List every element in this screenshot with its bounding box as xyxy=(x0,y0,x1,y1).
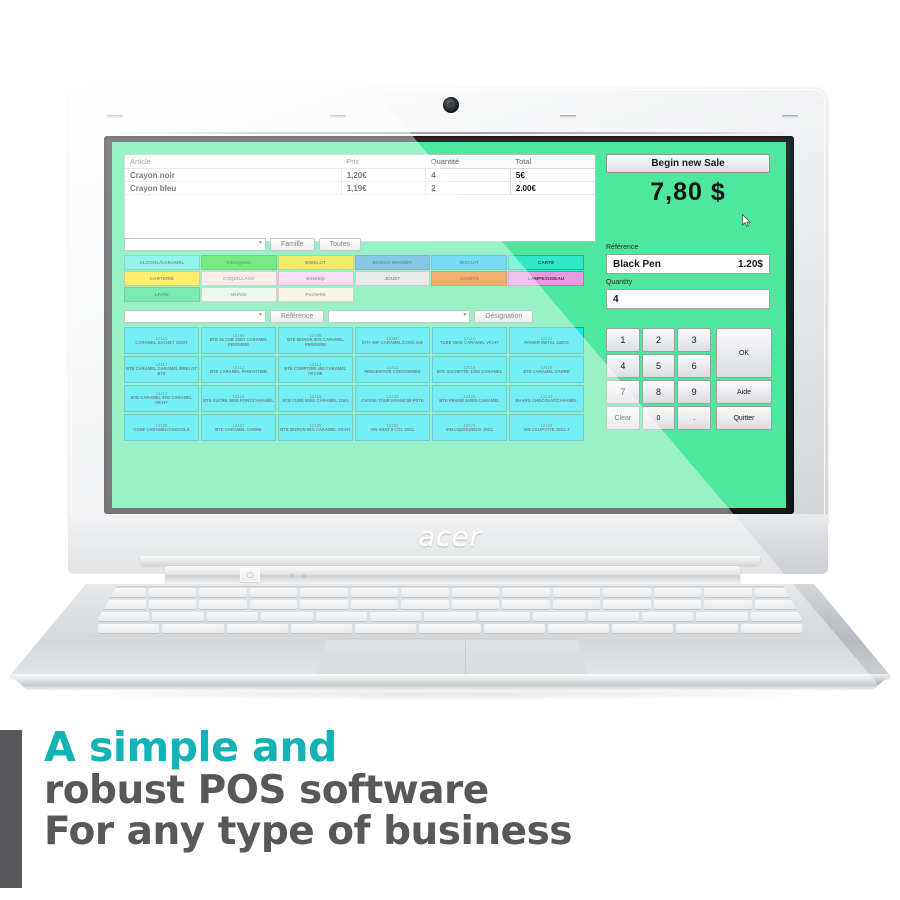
cart-cell-prix: 1,20€ xyxy=(341,169,426,182)
keyboard-key xyxy=(452,588,500,597)
product-button[interactable]: 12122BAARG CHOCOLAT/CARAMEL xyxy=(509,385,584,412)
keyboard-key xyxy=(751,612,802,621)
product-toolbar: Référence Désignation xyxy=(124,310,584,323)
tagline-line-2: robust POS software xyxy=(44,770,744,811)
keyboard-key xyxy=(401,600,449,609)
cart-col-quantite: Quantité xyxy=(426,155,511,169)
reference-field[interactable]: Black Pen 1.20$ xyxy=(606,254,770,274)
family-button-grid: ALCOOL/CARAMELAllongeantBIBELOTBIJOUX-MA… xyxy=(124,255,584,302)
product-button[interactable]: 12211PANIER METAL 1420G xyxy=(509,327,584,354)
product-name: CONF CARAMEL/CHOCOLA xyxy=(133,428,189,433)
keypad-aide-button[interactable]: Aide xyxy=(716,380,772,404)
keyboard-key xyxy=(199,600,247,609)
keyboard-key xyxy=(98,624,159,633)
lid-foot xyxy=(140,556,760,565)
family-button[interactable]: LIVRE xyxy=(124,287,200,302)
cart-cell-article: Crayon noir xyxy=(125,169,341,182)
quantity-field-label: Quantity xyxy=(606,279,632,286)
cart-cell-total: 2.00€ xyxy=(510,182,595,195)
keyboard-key xyxy=(553,588,601,597)
family-button[interactable]: Pochette xyxy=(278,287,354,302)
product-button[interactable]: 12104BTE 16 CUB 150G CARAMEL FERRIERE xyxy=(201,327,276,354)
keyboard-key xyxy=(696,612,747,621)
keyboard-key xyxy=(704,600,752,609)
keyboard-key xyxy=(98,612,149,621)
product-name: BTE CARAMEL CARAMEL/BRELOT BTE xyxy=(126,367,197,376)
keyboard-key xyxy=(401,588,449,597)
keyboard-key xyxy=(704,588,752,597)
family-button[interactable]: JOUET xyxy=(355,271,431,286)
keyboard-key xyxy=(227,624,288,633)
famille-button[interactable]: Famille xyxy=(270,238,315,251)
tagline-line-3: For any type of business xyxy=(44,811,744,852)
keyboard-key xyxy=(612,624,673,633)
product-button[interactable]: 12175VIN LIQUOUREUX 25CL xyxy=(432,414,507,441)
family-combo-select[interactable] xyxy=(124,238,266,251)
keyboard-key xyxy=(533,612,584,621)
keyboard-key xyxy=(588,612,639,621)
trackpad[interactable] xyxy=(318,638,586,676)
keyboard-key xyxy=(261,612,312,621)
keypad-digit-6[interactable]: 6 xyxy=(677,354,711,378)
family-button[interactable]: JOUETS xyxy=(431,271,507,286)
product-name: BTE CUBE 500G CARAMEL 110G xyxy=(282,399,348,404)
keyboard-key xyxy=(149,588,197,597)
keypad-decimal-button[interactable]: . xyxy=(677,406,711,430)
keypad-quitter-button[interactable]: Quitter xyxy=(716,406,772,430)
pos-application: Article Prix Quantité Total Crayon noir … xyxy=(112,142,786,508)
family-button[interactable]: CARTE xyxy=(508,255,584,270)
right-panel: Begin new Sale 7,80 $ Référence Black Pe… xyxy=(604,152,776,498)
total-amount-display: 7,80 $ xyxy=(604,178,772,207)
keyboard-key xyxy=(424,612,475,621)
screen-frame: Article Prix Quantité Total Crayon noir … xyxy=(104,136,794,514)
reference-field-label: Référence xyxy=(606,244,638,251)
speaker-slot-right-outer xyxy=(782,115,798,118)
quantity-input[interactable]: 4 xyxy=(606,289,770,309)
keyboard-key xyxy=(548,624,609,633)
cart-cell-quantite: 4 xyxy=(426,169,511,182)
keyboard-key xyxy=(351,588,399,597)
table-row[interactable]: Crayon bleu 1,19€ 2 2.00€ xyxy=(125,182,595,195)
product-button[interactable]: 12113BTE CARAMEL PAINVOTIER xyxy=(201,356,276,383)
product-button[interactable]: 12411PRESENTOIR CONSOMMES xyxy=(355,356,430,383)
tagline-accent-bar xyxy=(0,730,22,888)
family-button[interactable]: Allongeant xyxy=(201,255,277,270)
keyboard-key xyxy=(291,624,352,633)
base-drop-shadow xyxy=(40,688,860,700)
keyboard-key xyxy=(152,612,203,621)
product-name: VIN LIQUOUREUX 25CL xyxy=(446,428,493,433)
product-name: VIN CALIPYTTE 25CL 2 xyxy=(523,428,569,433)
product-button[interactable]: 12107BTE CARAMEL CARRE xyxy=(201,414,276,441)
product-button[interactable]: 12119BTE CUBE 500G CARAMEL 110G xyxy=(278,385,353,412)
keyboard-key xyxy=(654,600,702,609)
keypad-digit-5[interactable]: 5 xyxy=(642,354,676,378)
keyboard-key xyxy=(370,612,421,621)
product-name: BTE COMPTOIR 450 CARAMEL FECHE xyxy=(280,367,351,376)
product-name: CAISSE TOUR KRANZ 88 PSTE xyxy=(361,399,423,404)
reference-button[interactable]: Référence xyxy=(270,310,324,323)
product-name: BTE CARAMEL CARRE xyxy=(215,428,261,433)
keyboard-key xyxy=(351,600,399,609)
family-button[interactable]: BISCUIT xyxy=(431,255,507,270)
product-button[interactable]: 12102VIN SHAT 9 COL 25CL xyxy=(355,414,430,441)
family-button[interactable]: LAMPE/OISEAU xyxy=(508,271,584,286)
keypad-ok-button[interactable]: OK xyxy=(716,328,772,378)
keyboard-key xyxy=(642,612,693,621)
product-name: BTE MURON 50G CARAMEL VICHY xyxy=(280,428,350,433)
laptop-illustration: Article Prix Quantité Total Crayon noir … xyxy=(0,0,900,710)
product-button[interactable]: 12108BTE MONOR 50G CARAMEL FERRIERE xyxy=(278,327,353,354)
keypad-digit-9[interactable]: 9 xyxy=(677,380,711,404)
cart-cell-total: 5€ xyxy=(510,169,595,182)
designation-button[interactable]: Désignation xyxy=(474,310,533,323)
keypad-digit-3[interactable]: 3 xyxy=(677,328,711,352)
product-button[interactable]: 12104VIN CALIPYTTE 25CL 2 xyxy=(509,414,584,441)
cart-col-total: Total xyxy=(510,155,595,169)
cart-cell-quantite: 2 xyxy=(426,182,511,195)
product-button[interactable]: 12380KIT+ 50P CARAMEL/CONS 500 xyxy=(355,327,430,354)
promo-stage: Article Prix Quantité Total Crayon noir … xyxy=(0,0,900,900)
product-name: BTE FRAMB 1000G CARAMEL xyxy=(439,399,500,404)
reference-product-name: Black Pen xyxy=(613,259,661,270)
cart-table-element: Article Prix Quantité Total Crayon noir … xyxy=(125,155,595,195)
product-name: BTE CARAMEL PAINVOTIER xyxy=(210,370,267,375)
product-name: PRESENTOIR CONSOMMES xyxy=(364,370,420,375)
product-name: BTE MONOR 50G CARAMEL FERRIERE xyxy=(280,338,351,347)
laptop-base xyxy=(0,576,900,700)
product-button[interactable]: 12118BTE SUCRE 300G PORT/CARAMEL xyxy=(201,385,276,412)
product-name: CARAMEL SACHET 1000T xyxy=(135,341,187,346)
family-button[interactable]: MUNGI xyxy=(201,287,277,302)
toutes-button[interactable]: Toutes xyxy=(319,238,362,251)
keypad-digit-4[interactable]: 4 xyxy=(606,354,640,378)
keyboard-key xyxy=(419,624,480,633)
keyboard-key xyxy=(553,600,601,609)
cart-col-prix: Prix xyxy=(341,155,426,169)
speaker-slot-right-inner xyxy=(560,115,576,118)
keyboard-key xyxy=(484,624,545,633)
product-name: BTE CARAMEL 80G CARAMEL VICHY xyxy=(126,396,197,405)
keyboard-key xyxy=(452,600,500,609)
keyboard-key xyxy=(250,600,298,609)
family-toolbar: Famille Toutes xyxy=(124,238,584,251)
cart-empty-area xyxy=(125,195,595,241)
product-name: VIN SHAT 9 COL 25CL xyxy=(370,428,414,433)
keyboard[interactable] xyxy=(88,586,812,636)
product-name: BTE SUCRETTE 130G CARAMEL xyxy=(437,370,503,375)
product-name: BTE SUCRE 300G PORT/CARAMEL xyxy=(203,399,274,404)
family-button[interactable]: CARTERIE xyxy=(124,271,200,286)
bezel-hairline xyxy=(104,132,794,134)
keyboard-key xyxy=(676,624,737,633)
product-button[interactable]: 12105BTE MURON 50G CARAMEL VICHY xyxy=(278,414,353,441)
product-button[interactable]: 12117BTE CARAMEL CARAMEL/BRELOT BTE xyxy=(124,356,199,383)
speaker-slot-left-inner xyxy=(330,115,346,118)
family-button[interactable]: BIBELOT xyxy=(278,255,354,270)
product-button[interactable]: 12108CONF CARAMEL/CHOCOLA xyxy=(124,414,199,441)
product-button[interactable]: 12110TUBE 150G CARAMEL VICHY xyxy=(432,327,507,354)
product-button[interactable]: 12114BTE CARAMEL 80G CARAMEL VICHY xyxy=(124,385,199,412)
keyboard-key xyxy=(355,624,416,633)
acer-brand-logo: acer xyxy=(0,522,900,553)
family-button[interactable]: Envelop xyxy=(278,271,354,286)
product-button[interactable]: 12116BTE SUCRETTE 130G CARAMEL xyxy=(432,356,507,383)
keyboard-key xyxy=(149,600,197,609)
keyboard-key xyxy=(162,624,223,633)
reference-product-price: 1.20$ xyxy=(738,259,763,270)
screen-display: Article Prix Quantité Total Crayon noir … xyxy=(112,142,786,508)
keypad-digit-8[interactable]: 8 xyxy=(642,380,676,404)
product-button[interactable]: 12130CAISSE TOUR KRANZ 88 PSTE xyxy=(355,385,430,412)
keypad-actions: OK Aide Quitter xyxy=(716,328,772,430)
keypad-digit-1[interactable]: 1 xyxy=(606,328,640,352)
product-name: PANIER METAL 1420G xyxy=(524,341,568,346)
product-name: BAARG CHOCOLAT/CARAMEL xyxy=(515,399,577,404)
product-button-grid: 12112CARAMEL SACHET 1000T12104BTE 16 CUB… xyxy=(124,327,584,441)
product-designation-combo[interactable] xyxy=(328,310,470,323)
keypad-digit-2[interactable]: 2 xyxy=(642,328,676,352)
keypad-digit-0[interactable]: 0 xyxy=(642,406,676,430)
cart-cell-prix: 1,19€ xyxy=(341,182,426,195)
product-name: KIT+ 50P CARAMEL/CONS 500 xyxy=(362,341,423,346)
keyboard-key xyxy=(316,612,367,621)
keyboard-key xyxy=(741,624,802,633)
tagline-text-block: A simple and robust POS software For any… xyxy=(44,726,744,853)
mouse-cursor-icon xyxy=(742,214,751,227)
keyboard-key xyxy=(199,588,247,597)
begin-new-sale-button[interactable]: Begin new Sale xyxy=(606,154,770,173)
cart-cell-article: Crayon bleu xyxy=(125,182,341,195)
table-row[interactable]: Crayon noir 1,20€ 4 5€ xyxy=(125,169,595,182)
keypad-clear-button[interactable]: Clear xyxy=(606,406,640,430)
webcam-icon xyxy=(443,97,459,113)
keyboard-key xyxy=(250,588,298,597)
keyboard-key xyxy=(603,600,651,609)
quantity-value: 4 xyxy=(613,294,619,305)
keyboard-key xyxy=(502,600,550,609)
tagline-line-1: A simple and xyxy=(44,726,744,770)
cart-col-article: Article xyxy=(125,155,341,169)
keyboard-key xyxy=(207,612,258,621)
family-button[interactable]: COQUILLAGE xyxy=(201,271,277,286)
keyboard-key xyxy=(300,600,348,609)
tagline-section: A simple and robust POS software For any… xyxy=(0,718,900,900)
family-button[interactable]: ALCOOL/CARAMEL xyxy=(124,255,200,270)
keyboard-key xyxy=(300,588,348,597)
product-button[interactable]: 12121BTE FRAMB 1000G CARAMEL xyxy=(432,385,507,412)
product-name: TUBE 150G CARAMEL VICHY xyxy=(440,341,499,346)
product-name: BTE 16 CUB 150G CARAMEL FERRIERE xyxy=(203,338,274,347)
cart-table: Article Prix Quantité Total Crayon noir … xyxy=(124,154,596,242)
product-button[interactable]: 12118BTE CARAMEL CARRE xyxy=(509,356,584,383)
family-button[interactable]: BIJOUX-MAGNET xyxy=(355,255,431,270)
keypad-digit-7[interactable]: 7 xyxy=(606,380,640,404)
product-button[interactable]: 12112CARAMEL SACHET 1000T xyxy=(124,327,199,354)
keypad-digits: 123456789Clear0. xyxy=(606,328,711,430)
keyboard-key xyxy=(502,588,550,597)
keyboard-key xyxy=(603,588,651,597)
product-button[interactable]: 12114BTE COMPTOIR 450 CARAMEL FECHE xyxy=(278,356,353,383)
product-name: BTE CARAMEL CARRE xyxy=(523,370,569,375)
cart-header-row: Article Prix Quantité Total xyxy=(125,155,595,169)
keyboard-key xyxy=(479,612,530,621)
keyboard-key xyxy=(654,588,702,597)
product-reference-combo[interactable] xyxy=(124,310,266,323)
speaker-slot-left-outer xyxy=(107,115,123,118)
